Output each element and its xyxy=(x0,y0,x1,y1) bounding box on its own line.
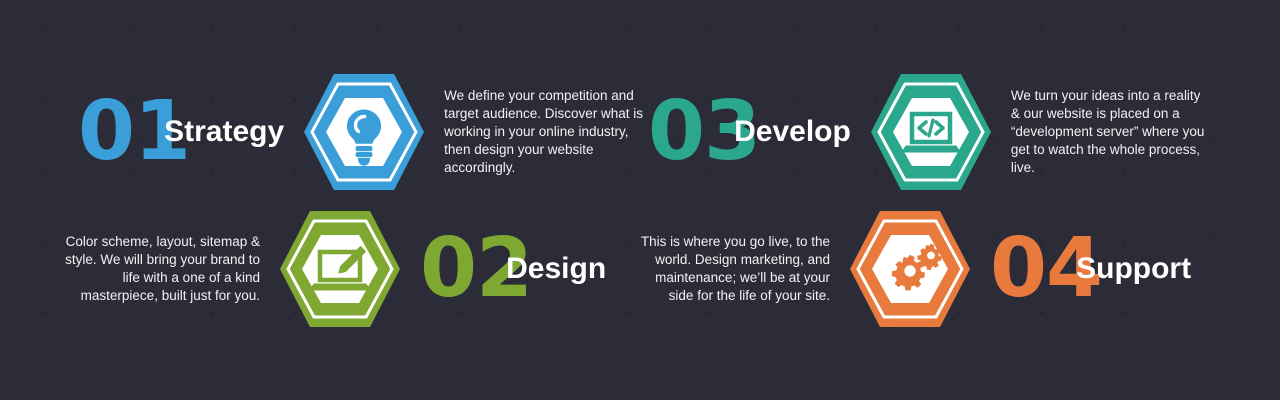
step-support: This is where you go live, to the world.… xyxy=(630,205,1191,333)
step-strategy-hexagon[interactable] xyxy=(300,68,428,196)
step-support-description: This is where you go live, to the world.… xyxy=(630,233,830,305)
step-develop-hexagon[interactable] xyxy=(867,68,995,196)
step-develop-number-group: 03 Develop xyxy=(648,91,851,173)
step-strategy-description: We define your competition and target au… xyxy=(444,87,644,177)
step-design-number-group: 02 Design xyxy=(420,228,606,310)
step-design-label: Design xyxy=(506,254,606,284)
step-design-hexagon[interactable] xyxy=(276,205,404,333)
step-develop-description: We turn your ideas into a reality & our … xyxy=(1011,87,1211,177)
step-design-description: Color scheme, layout, sitemap & style. W… xyxy=(60,233,260,305)
step-support-hexagon[interactable] xyxy=(846,205,974,333)
step-develop-label: Develop xyxy=(734,117,851,147)
step-support-label: Support xyxy=(1076,254,1191,284)
step-strategy-number-group: 01 Strategy xyxy=(78,91,284,173)
step-strategy-label: Strategy xyxy=(164,117,284,147)
step-develop: 03 Develop We turn your ideas into a rea… xyxy=(648,68,1211,196)
steps-grid: 01 Strategy We define your competition a… xyxy=(0,0,1280,400)
step-support-number-group: 04 Support xyxy=(990,228,1191,310)
step-design: Color scheme, layout, sitemap & style. W… xyxy=(60,205,606,333)
step-strategy: 01 Strategy We define your competition a… xyxy=(78,68,644,196)
